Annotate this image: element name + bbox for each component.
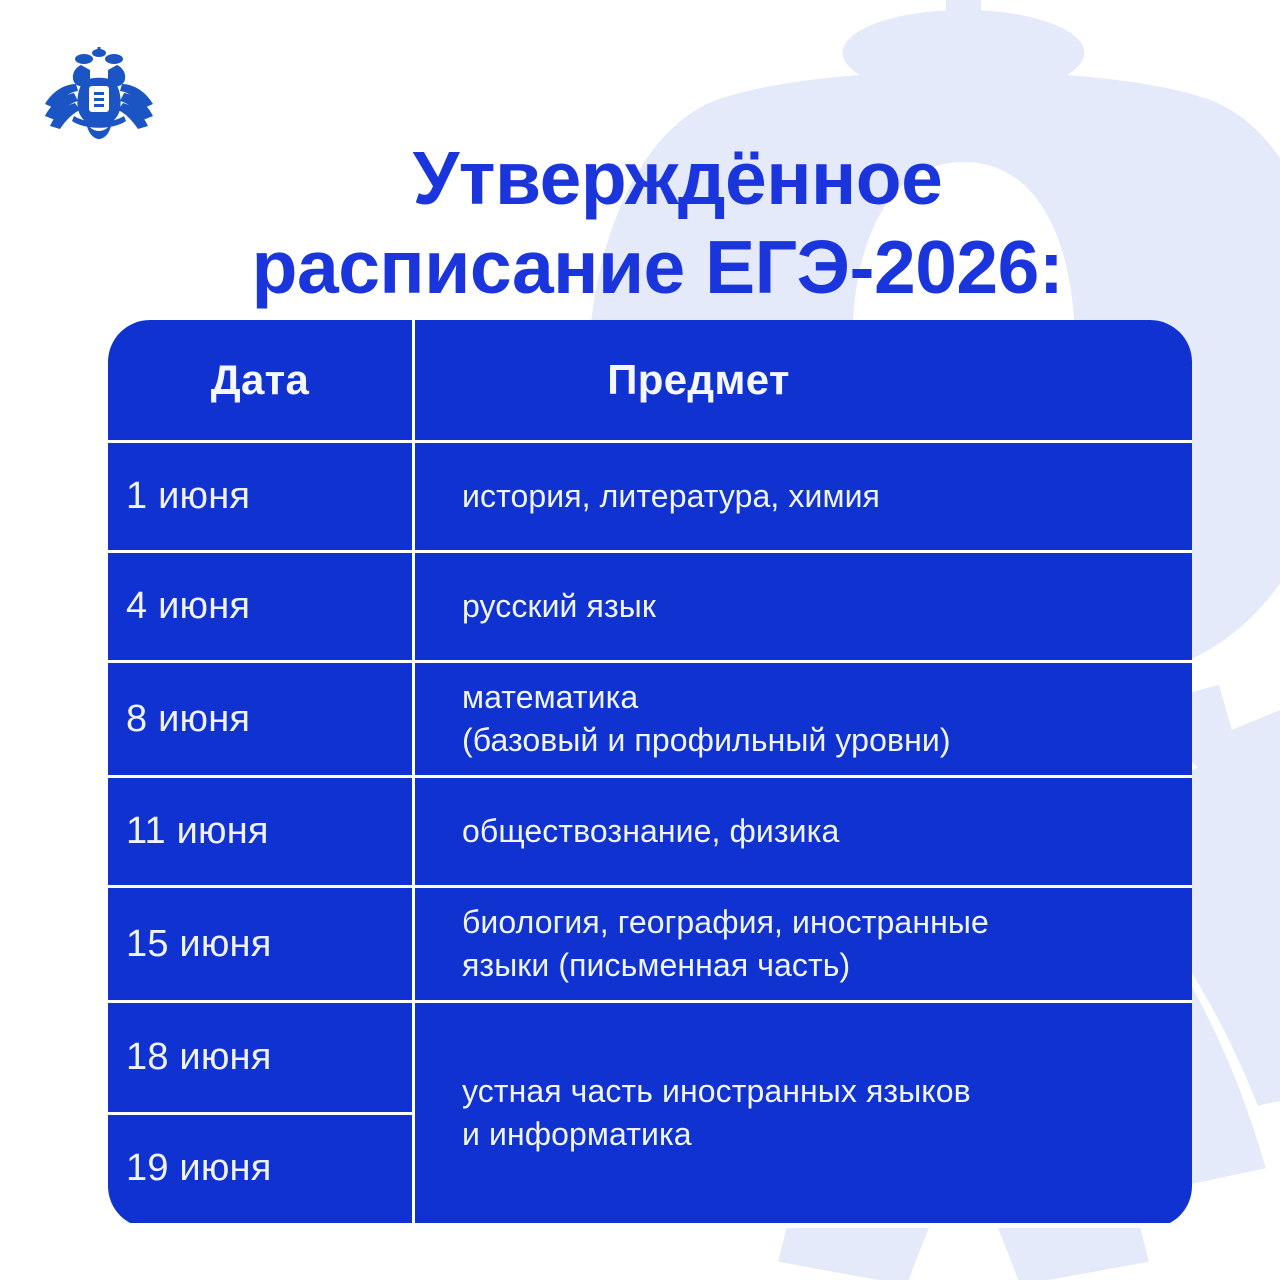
table-row: 4 июня русский язык <box>108 553 1192 660</box>
cell-subject: математика (базовый и профильный уровни) <box>415 663 1192 775</box>
cell-date: 11 июня <box>108 778 412 885</box>
cell-date: 8 июня <box>108 663 412 775</box>
subject-value: биология, география, иностранные языки (… <box>462 901 989 987</box>
column-header-subject: Предмет <box>415 320 1192 440</box>
table-row-merged: 18 июня 19 июня устная часть иностранных… <box>108 1003 1192 1223</box>
table-header-row: Дата Предмет <box>108 320 1192 440</box>
cell-subject-merged: устная часть иностранных языков и информ… <box>415 1003 1192 1223</box>
cell-subject: обществознание, физика <box>415 778 1192 885</box>
cell-subject: история, литература, химия <box>415 443 1192 550</box>
column-header-date: Дата <box>108 320 412 440</box>
russian-eagle-emblem-icon <box>40 46 158 140</box>
cell-date: 19 июня <box>108 1115 412 1224</box>
page-title: Утверждённое расписание ЕГЭ-2026: <box>90 134 1225 311</box>
subject-line-1: русский язык <box>462 585 656 628</box>
date-value: 8 июня <box>126 698 250 741</box>
table-row: 15 июня биология, география, иностранные… <box>108 888 1192 1000</box>
table-row: 11 июня обществознание, физика <box>108 778 1192 885</box>
subject-value: математика (базовый и профильный уровни) <box>462 676 951 762</box>
subject-value: устная часть иностранных языков и информ… <box>462 1070 971 1156</box>
exam-schedule-table: Дата Предмет 1 июня история, литература,… <box>108 320 1192 1228</box>
subject-value: русский язык <box>462 585 656 628</box>
cell-date: 15 июня <box>108 888 412 1000</box>
table-row: 1 июня история, литература, химия <box>108 443 1192 550</box>
date-value: 11 июня <box>126 810 269 853</box>
subject-line-2: языки (письменная часть) <box>462 944 989 987</box>
subject-line-1: обществознание, физика <box>462 810 839 853</box>
subject-line-2: и информатика <box>462 1113 971 1156</box>
date-value: 15 июня <box>126 923 272 966</box>
subject-line-1: устная часть иностранных языков <box>462 1070 971 1113</box>
subject-line-2: (базовый и профильный уровни) <box>462 719 951 762</box>
cell-date: 4 июня <box>108 553 412 660</box>
page-title-line-1: Утверждённое <box>90 134 1225 223</box>
subject-line-1: биология, география, иностранные <box>462 901 989 944</box>
cell-subject: биология, география, иностранные языки (… <box>415 888 1192 1000</box>
table-row: 8 июня математика (базовый и профильный … <box>108 663 1192 775</box>
cell-date: 18 июня <box>108 1003 412 1112</box>
date-value: 19 июня <box>126 1147 272 1190</box>
page-title-line-2: расписание ЕГЭ-2026: <box>90 223 1225 312</box>
cell-date: 1 июня <box>108 443 412 550</box>
subject-line-1: история, литература, химия <box>462 475 880 518</box>
date-value: 4 июня <box>126 585 250 628</box>
date-value: 18 июня <box>126 1036 272 1079</box>
subject-value: история, литература, химия <box>462 475 880 518</box>
merged-date-column: 18 июня 19 июня <box>108 1003 412 1223</box>
subject-value: обществознание, физика <box>462 810 839 853</box>
date-value: 1 июня <box>126 475 250 518</box>
subject-line-1: математика <box>462 676 951 719</box>
cell-subject: русский язык <box>415 553 1192 660</box>
